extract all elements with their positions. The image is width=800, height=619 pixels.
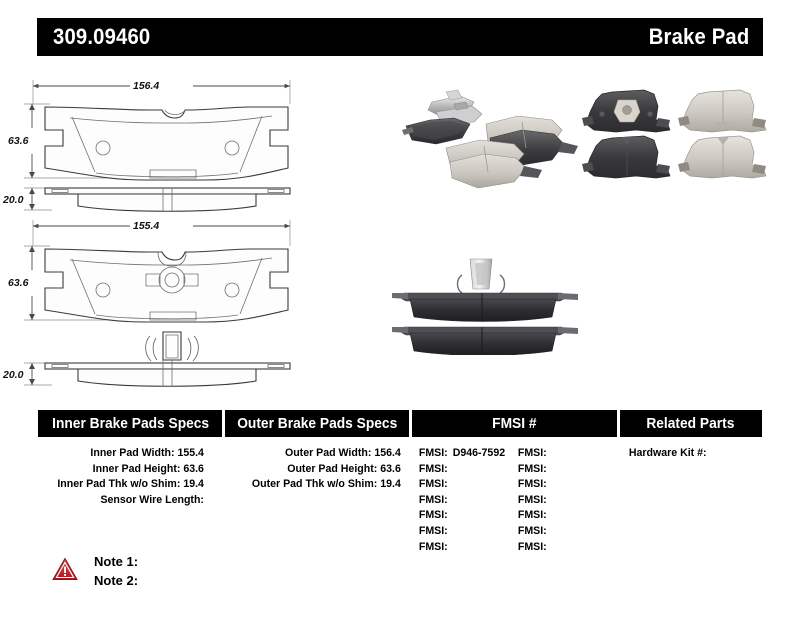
fmsi-value: D946-7592 — [448, 447, 505, 459]
header-outer-specs-label: Outer Brake Pads Specs — [237, 416, 397, 432]
dim-inner-height: 63.6 — [8, 277, 29, 289]
outer-pad-drawing: STOPTECH STOPTECH 156.4 63.6 — [0, 60, 400, 230]
dim-inner-width: 155.4 — [133, 220, 159, 232]
fmsi-value — [547, 494, 552, 506]
sensor-clip-photo — [458, 259, 505, 293]
fmsi-label: FMSI: — [518, 509, 547, 521]
product-type: Brake Pad — [648, 24, 749, 50]
pad-flat-2 — [678, 90, 766, 132]
fmsi-column-left: FMSI:D946-7592 FMSI: FMSI: FMSI: FMSI: — [419, 446, 518, 555]
cell-inner-specs: Inner Pad Width: 155.4 Inner Pad Height:… — [38, 437, 222, 560]
spec-table: Inner Brake Pads Specs Outer Brake Pads … — [38, 410, 762, 560]
fmsi-value — [448, 478, 453, 490]
fmsi-row: FMSI: — [419, 540, 518, 556]
fmsi-row: FMSI: — [419, 493, 518, 509]
fmsi-row: FMSI: — [518, 540, 617, 556]
related-part-label: Hardware Kit #: — [629, 447, 707, 459]
fmsi-label: FMSI: — [518, 525, 547, 537]
spec-row: Outer Pad Thk w/o Shim: 19.4 — [225, 477, 401, 493]
pad-edge-photo — [392, 245, 582, 355]
fmsi-label: FMSI: — [518, 541, 547, 553]
table-header-row: Inner Brake Pads Specs Outer Brake Pads … — [38, 410, 762, 437]
fmsi-value — [547, 509, 552, 521]
pad-set-photo-angled — [402, 82, 582, 192]
header-outer-specs: Outer Brake Pads Specs — [225, 410, 409, 437]
note-2: Note 2: — [94, 571, 138, 590]
fmsi-value — [448, 525, 453, 537]
fmsi-value — [547, 525, 552, 537]
header-related-parts: Related Parts — [620, 410, 762, 437]
spec-row: Inner Pad Thk w/o Shim: 19.4 — [38, 477, 204, 493]
spec-row: Inner Pad Height: 63.6 — [38, 462, 204, 478]
fmsi-label: FMSI: — [419, 525, 448, 537]
fmsi-value — [448, 463, 453, 475]
fmsi-value — [448, 509, 453, 521]
fmsi-label: FMSI: — [419, 447, 448, 459]
fmsi-label: FMSI: — [419, 509, 448, 521]
fmsi-label: FMSI: — [518, 447, 547, 459]
fmsi-row: FMSI: — [518, 493, 617, 509]
spec-value: 19.4 — [183, 478, 204, 490]
drawings-area: STOPTECH STOPTECH 156.4 63.6 — [0, 60, 800, 400]
fmsi-row: FMSI:D946-7592 — [419, 446, 518, 462]
fmsi-row: FMSI: — [419, 462, 518, 478]
header-fmsi: FMSI # — [412, 410, 616, 437]
spec-value: 63.6 — [183, 463, 204, 475]
fmsi-row: FMSI: — [419, 508, 518, 524]
pad-flat-3 — [582, 136, 670, 178]
spec-value: 156.4 — [374, 447, 401, 459]
cell-related-parts: Hardware Kit #: — [620, 437, 762, 560]
dim-inner-thickness: 20.0 — [2, 369, 24, 381]
fmsi-value — [547, 447, 552, 459]
header-inner-specs: Inner Brake Pads Specs — [38, 410, 222, 437]
header-inner-specs-label: Inner Brake Pads Specs — [52, 416, 209, 432]
fmsi-value — [448, 494, 453, 506]
fmsi-row: FMSI: — [518, 462, 617, 478]
header-fmsi-label: FMSI # — [492, 416, 536, 432]
dim-outer-width: 156.4 — [133, 80, 159, 92]
table-body-row: Inner Pad Width: 155.4 Inner Pad Height:… — [38, 437, 762, 560]
spec-label: Inner Pad Height: — [93, 463, 181, 475]
fmsi-value — [547, 541, 552, 553]
fmsi-value — [547, 478, 552, 490]
fmsi-row: FMSI: — [419, 524, 518, 540]
fmsi-label: FMSI: — [419, 494, 448, 506]
fmsi-row: FMSI: — [518, 508, 617, 524]
spec-label: Inner Pad Width: — [90, 447, 174, 459]
fmsi-label: FMSI: — [518, 463, 547, 475]
pad-edge-2 — [392, 327, 578, 355]
notes-section: Note 1: Note 2: — [52, 552, 352, 598]
cell-outer-specs: Outer Pad Width: 156.4 Outer Pad Height:… — [225, 437, 409, 560]
fmsi-row: FMSI: — [419, 477, 518, 493]
sensor-clip-detail — [146, 332, 199, 361]
spec-value: 19.4 — [380, 478, 401, 490]
spec-row: Sensor Wire Length: — [38, 493, 204, 509]
warning-triangle-icon — [52, 557, 78, 581]
spec-value: 155.4 — [177, 447, 204, 459]
related-part-row: Hardware Kit #: — [629, 446, 762, 462]
header-related-parts-label: Related Parts — [647, 416, 735, 432]
fmsi-row: FMSI: — [518, 477, 617, 493]
fmsi-label: FMSI: — [518, 478, 547, 490]
pad-flat-1 — [582, 90, 670, 132]
fmsi-label: FMSI: — [419, 463, 448, 475]
part-number: 309.09460 — [53, 24, 150, 50]
fmsi-column-right: FMSI: FMSI: FMSI: FMSI: FMSI: — [518, 446, 617, 555]
inner-pad-edge-view — [45, 360, 290, 386]
fmsi-label: FMSI: — [518, 494, 547, 506]
fmsi-value — [547, 463, 552, 475]
spec-row: Outer Pad Width: 156.4 — [225, 446, 401, 462]
dim-outer-height: 63.6 — [8, 135, 29, 147]
pad-edge-1 — [392, 293, 578, 322]
spec-label: Outer Pad Height: — [287, 463, 377, 475]
pad-photo-1 — [402, 118, 470, 144]
pad-set-photo-flat — [582, 84, 768, 190]
cell-fmsi: FMSI:D946-7592 FMSI: FMSI: FMSI: FMSI: — [412, 437, 617, 560]
inner-pad-drawing: STOPTECH STOPTECH 155.4 63.6 — [0, 208, 400, 400]
spec-value: 63.6 — [380, 463, 401, 475]
note-lines: Note 1: Note 2: — [94, 552, 138, 590]
fmsi-row: FMSI: — [518, 524, 617, 540]
fmsi-value — [448, 541, 453, 553]
spec-label: Sensor Wire Length: — [100, 494, 204, 506]
spec-label: Inner Pad Thk w/o Shim: — [57, 478, 180, 490]
fmsi-row: FMSI: — [518, 446, 617, 462]
spec-label: Outer Pad Width: — [285, 447, 371, 459]
dim-outer-thickness: 20.0 — [2, 194, 24, 206]
spec-row: Outer Pad Height: 63.6 — [225, 462, 401, 478]
fmsi-label: FMSI: — [419, 478, 448, 490]
spec-row: Inner Pad Width: 155.4 — [38, 446, 204, 462]
spec-label: Outer Pad Thk w/o Shim: — [252, 478, 377, 490]
spec-sheet: 309.09460 Brake Pad STOPTECH STOPTECH 15… — [0, 0, 800, 619]
fmsi-label: FMSI: — [419, 541, 448, 553]
note-1: Note 1: — [94, 552, 138, 571]
title-bar: 309.09460 Brake Pad — [37, 18, 763, 56]
pad-flat-4 — [678, 136, 766, 178]
